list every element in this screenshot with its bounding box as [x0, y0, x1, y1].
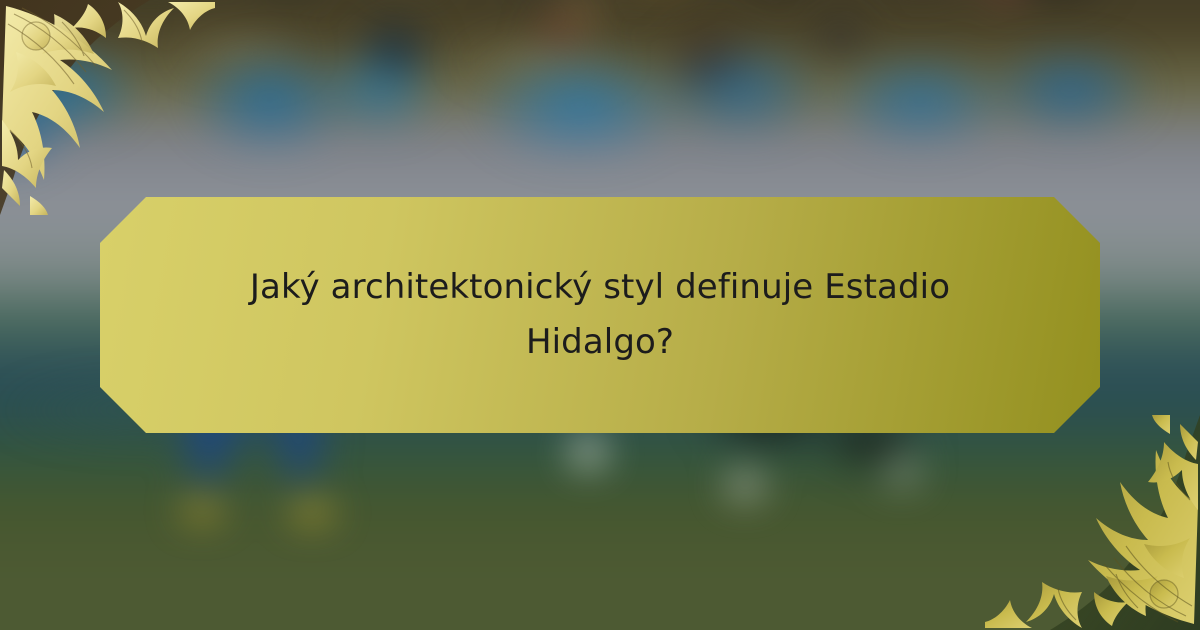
page-title: Jaký architektonický styl definuje Estad…	[210, 260, 990, 370]
title-banner: Jaký architektonický styl definuje Estad…	[100, 197, 1100, 433]
corner-ornament-top-left-icon	[0, 0, 215, 215]
social-card: Jaký architektonický styl definuje Estad…	[0, 0, 1200, 630]
corner-ornament-bottom-right-icon	[985, 415, 1200, 630]
